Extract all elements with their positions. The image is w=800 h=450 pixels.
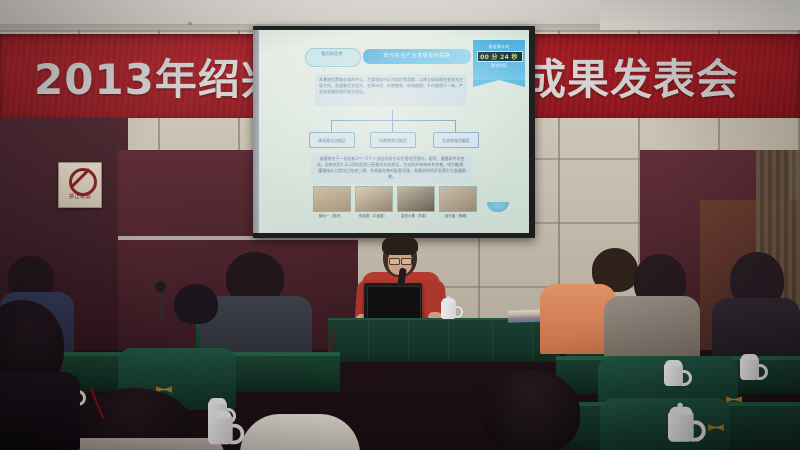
no-smoking-sign: 禁止吸烟 bbox=[58, 162, 102, 208]
slide-logo-icon bbox=[487, 202, 509, 212]
teacup bbox=[668, 404, 695, 442]
slide-diagram-connectors bbox=[319, 110, 465, 132]
slide-speech-bubble-text: 我们的思考 bbox=[305, 51, 359, 57]
teacup-body bbox=[441, 301, 456, 319]
seat bbox=[600, 398, 730, 450]
audience-torso bbox=[604, 296, 700, 362]
slide-thumbnail: 温室大棚（效果） bbox=[397, 186, 433, 222]
timer-ribbon-notch-icon bbox=[473, 80, 525, 87]
teacup-lid bbox=[209, 398, 226, 404]
ceiling-fixture-icon bbox=[188, 22, 192, 25]
slide-thumbnail: 基地一（现状） bbox=[313, 186, 349, 222]
teacup-lid bbox=[665, 360, 682, 366]
teacup-body bbox=[668, 412, 694, 442]
thumbnail-caption: 基地一（现状） bbox=[313, 213, 349, 218]
teacup bbox=[441, 297, 456, 319]
audience-head bbox=[174, 284, 218, 324]
slide-diagram-node: 科普教育功能区 bbox=[370, 132, 416, 148]
teacup-knob bbox=[677, 403, 682, 408]
laptop bbox=[364, 283, 422, 323]
timer-value: 00 分 24 秒 bbox=[477, 52, 521, 61]
audience-head-foreground bbox=[484, 370, 580, 450]
thumbnail-image bbox=[313, 186, 351, 212]
laptop-screen bbox=[367, 286, 421, 319]
conference-hall-photo: 2013年绍兴市 成果发表会 禁止吸烟 我们的思考 现代农业产业发展规划思路 演… bbox=[0, 0, 800, 450]
presenter-hair bbox=[382, 235, 418, 255]
microphone-head-icon bbox=[155, 281, 166, 292]
slide-thumbnail: 规划图（平面图） bbox=[355, 186, 391, 222]
teacup-body bbox=[208, 416, 233, 445]
slide-title-text: 现代农业产业发展规划思路 bbox=[363, 52, 471, 59]
slide-thumbnail-strip: 基地一（现状） 规划图（平面图） 温室大棚（效果） 观光路（俯瞰） bbox=[313, 186, 473, 222]
teacup-lid bbox=[209, 411, 231, 419]
teacup-lid bbox=[741, 354, 758, 360]
slide-thumbnail: 观光路（俯瞰） bbox=[439, 186, 475, 222]
presenter-glasses-icon bbox=[389, 258, 400, 265]
banner-text-right: 成果发表会 bbox=[524, 46, 739, 107]
thumbnail-image bbox=[397, 186, 435, 212]
teacup bbox=[740, 352, 760, 380]
thumbnail-caption: 温室大棚（效果） bbox=[397, 213, 433, 218]
thumbnail-image bbox=[355, 186, 393, 212]
slide-paragraph-top: 本基地位置临近城市中心，主要服务市区的居民和游客，以建立休闲观光农业为主导方向，… bbox=[315, 74, 467, 106]
teacup-knob bbox=[447, 296, 450, 299]
teacup-body bbox=[664, 364, 683, 386]
presentation-slide: 我们的思考 现代农业产业发展规划思路 演讲倒计时 00 分 24 秒 剩余时间 … bbox=[259, 30, 529, 233]
banner-text-left: 2013年绍兴市 bbox=[34, 46, 254, 107]
audience-torso-foreground bbox=[0, 372, 80, 450]
speech-bubble-tail-icon bbox=[319, 64, 327, 72]
teacup bbox=[208, 408, 234, 444]
thumbnail-caption: 观光路（俯瞰） bbox=[439, 213, 475, 218]
head-table-skirt bbox=[328, 320, 560, 362]
no-smoking-label: 禁止吸烟 bbox=[59, 193, 101, 200]
foreground-paper bbox=[240, 414, 360, 450]
teacup bbox=[664, 358, 684, 386]
timer-sublabel: 剩余时间 bbox=[475, 63, 523, 69]
slide-diagram-node: 休闲观光功能区 bbox=[309, 132, 355, 148]
timer-label: 演讲倒计时 bbox=[475, 44, 523, 50]
thumbnail-caption: 规划图（平面图） bbox=[355, 213, 391, 218]
slide-paragraph-bottom: 该基地位于一处现有3个～5个人进驻的综合实验基地范围内，面积、道路条件均合适，现… bbox=[311, 153, 473, 183]
presenter-glasses-icon bbox=[401, 258, 412, 265]
slide-diagram-node: 生态保育功能区 bbox=[433, 132, 479, 148]
teacup-body bbox=[740, 358, 759, 380]
projection-screen: 我们的思考 现代农业产业发展规划思路 演讲倒计时 00 分 24 秒 剩余时间 … bbox=[259, 30, 529, 233]
thumbnail-image bbox=[439, 186, 477, 212]
